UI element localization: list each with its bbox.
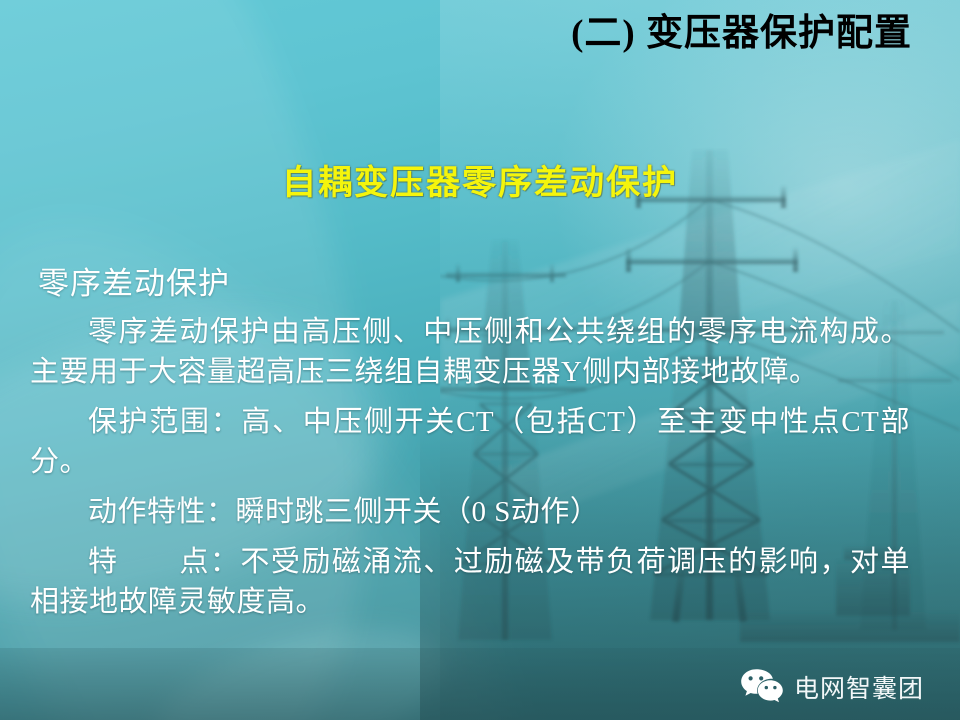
watermark-label: 电网智囊团: [794, 669, 924, 705]
wechat-icon: [740, 668, 784, 706]
section-heading: 自耦变压器零序差动保护: [0, 155, 960, 204]
paragraph: 保护范围：高、中压侧开关CT（包括CT）至主变中性点CT部分。: [30, 402, 910, 482]
paragraph: 零序差动保护由高压侧、中压侧和公共绕组的零序电流构成。主要用于大容量超高压三绕组…: [30, 312, 910, 392]
sub-heading: 零序差动保护: [38, 258, 230, 303]
watermark: 电网智囊团: [740, 668, 924, 706]
body-text: 零序差动保护由高压侧、中压侧和公共绕组的零序电流构成。主要用于大容量超高压三绕组…: [30, 312, 910, 624]
paragraph: 动作特性：瞬时跳三侧开关（0 S动作）: [30, 492, 910, 532]
slide-canvas: (二) 变压器保护配置 自耦变压器零序差动保护 零序差动保护 零序差动保护由高压…: [0, 0, 960, 720]
slide-title: (二) 变压器保护配置: [571, 14, 912, 55]
paragraph: 特 点：不受励磁涌流、过励磁及带负荷调压的影响，对单相接地故障灵敏度高。: [30, 542, 910, 622]
